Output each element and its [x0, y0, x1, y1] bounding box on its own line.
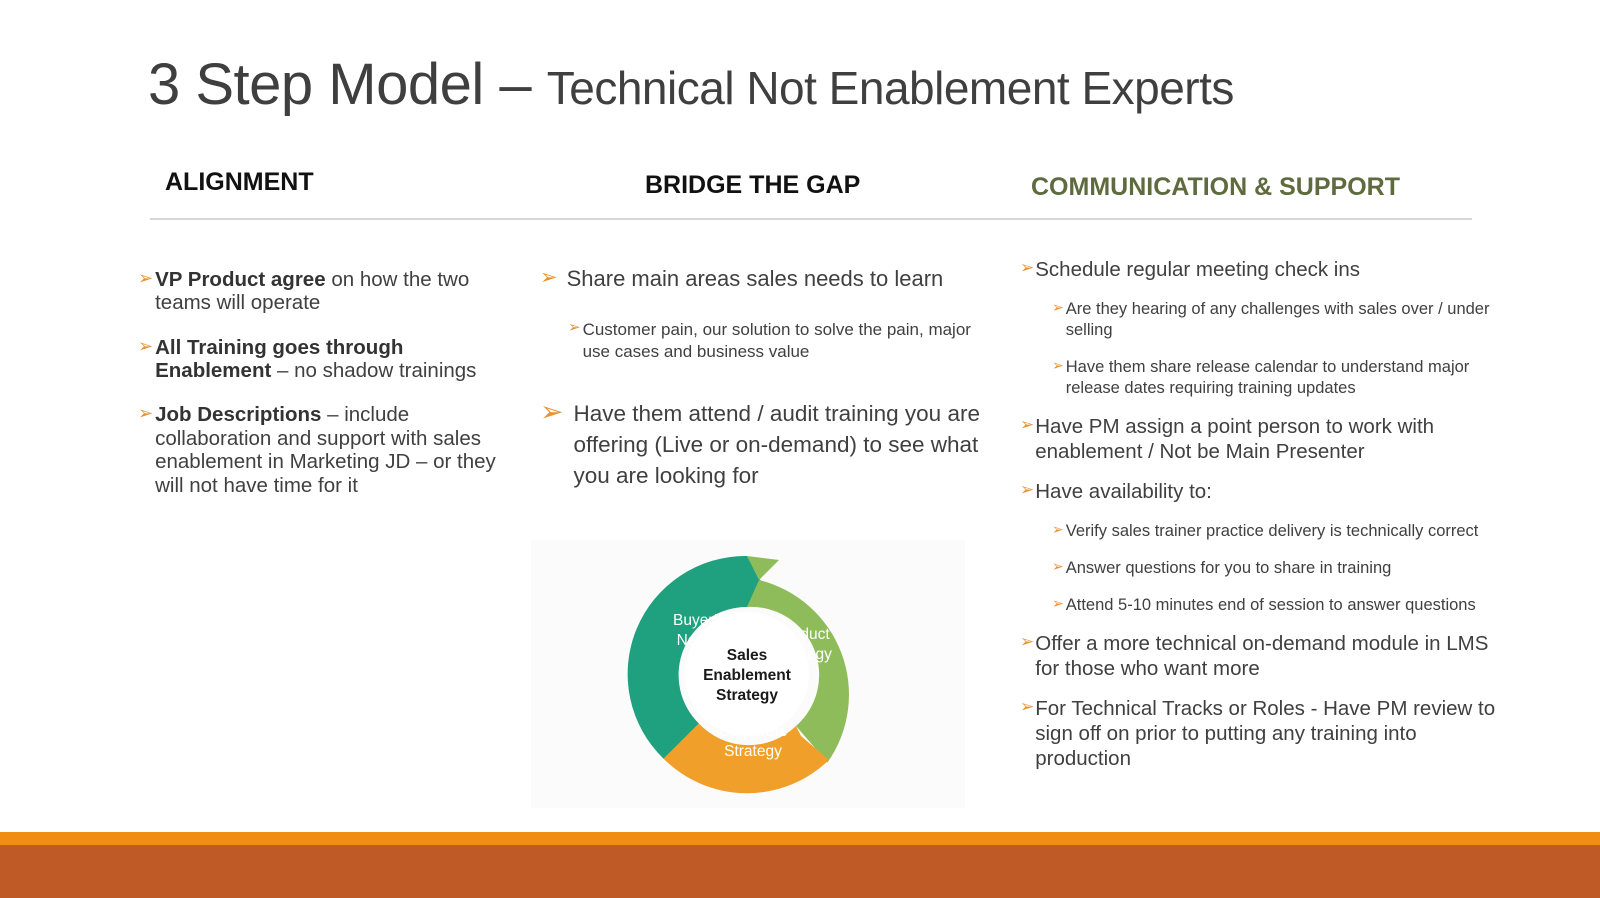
list-item-text: Offer a more technical on-demand module …	[1035, 632, 1505, 681]
list-item: ➢ Have PM assign a point person to work …	[1020, 415, 1505, 464]
column-header-communication-support: COMMUNICATION & SUPPORT	[1031, 173, 1400, 202]
list-item-lead: Job Descriptions	[155, 403, 321, 426]
arrow-bullet-icon: ➢	[1052, 595, 1064, 611]
column-header-bridge-the-gap: BRIDGE THE GAP	[645, 171, 860, 200]
title-subtitle: Technical Not Enablement Experts	[547, 62, 1234, 114]
arrow-bullet-icon: ➢	[138, 336, 153, 357]
arrow-bullet-icon: ➢	[138, 403, 153, 424]
segment-label-buyers-needs-line1: Buyer’s	[673, 612, 725, 629]
list-item: ➢ Job Descriptions – include collaborati…	[138, 403, 508, 496]
footer-bar-rust	[0, 845, 1600, 898]
list-item-text: Schedule regular meeting check ins	[1035, 258, 1505, 283]
list-item-text: Have them share release calendar to unde…	[1066, 357, 1502, 399]
header-divider-rule	[150, 218, 1472, 220]
list-item-text: – no shadow trainings	[271, 359, 476, 382]
list-item: ➢ VP Product agree on how the two teams …	[138, 268, 508, 315]
list-item: ➢ Share main areas sales needs to learn	[540, 266, 990, 291]
arrow-bullet-icon: ➢	[1052, 357, 1064, 373]
list-item-sub: ➢ Verify sales trainer practice delivery…	[1052, 521, 1502, 542]
list-item-text: Have PM assign a point person to work wi…	[1035, 415, 1505, 464]
list-item-sub: ➢ Customer pain, our solution to solve t…	[568, 319, 978, 363]
arrow-bullet-icon: ➢	[1052, 299, 1064, 315]
arrow-bullet-icon: ➢	[540, 398, 563, 426]
list-item-sub: ➢ Have them share release calendar to un…	[1052, 357, 1502, 399]
list-item-text: Attend 5-10 minutes end of session to an…	[1066, 595, 1502, 616]
footer-accent-bar-orange	[0, 832, 1600, 845]
donut-center-line2: Enablement	[703, 667, 791, 684]
column-header-alignment: ALIGNMENT	[165, 168, 314, 197]
list-item-sub: ➢ Attend 5-10 minutes end of session to …	[1052, 595, 1502, 616]
slide-canvas: 3 Step Model – Technical Not Enablement …	[0, 0, 1600, 898]
list-item-text: Verify sales trainer practice delivery i…	[1066, 521, 1502, 542]
list-item: ➢ All Training goes through Enablement –…	[138, 336, 508, 383]
list-item-text: Share main areas sales needs to learn	[567, 266, 990, 291]
donut-center-line1: Sales	[727, 647, 768, 664]
arrow-bullet-icon: ➢	[1020, 258, 1034, 278]
list-item-text: Customer pain, our solution to solve the…	[583, 319, 978, 363]
title-main: 3 Step Model –	[148, 52, 547, 117]
arrow-bullet-icon: ➢	[1020, 632, 1034, 652]
arrow-bullet-icon: ➢	[1052, 558, 1064, 574]
list-item-text: Are they hearing of any challenges with …	[1066, 299, 1502, 341]
list-item-sub: ➢ Answer questions for you to share in t…	[1052, 558, 1502, 579]
list-item-lead: VP Product agree	[155, 268, 326, 291]
arrow-bullet-icon: ➢	[1020, 480, 1034, 500]
segment-label-corporate-strategy-line2: Strategy	[724, 743, 782, 760]
column-bridge-body: ➢ Share main areas sales needs to learn …	[540, 266, 990, 491]
arrow-bullet-icon: ➢	[1020, 697, 1034, 717]
list-item: ➢ For Technical Tracks or Roles - Have P…	[1020, 697, 1505, 771]
list-item-sub: ➢ Are they hearing of any challenges wit…	[1052, 299, 1502, 341]
arrow-bullet-icon: ➢	[1052, 521, 1064, 537]
list-item: ➢ Schedule regular meeting check ins	[1020, 258, 1505, 283]
list-item-text: Answer questions for you to share in tra…	[1066, 558, 1502, 579]
segment-label-buyers-needs-line2: Needs	[677, 632, 722, 649]
arrow-bullet-icon: ➢	[138, 268, 153, 289]
page-title: 3 Step Model – Technical Not Enablement …	[148, 56, 1234, 114]
list-item: ➢ Have them attend / audit training you …	[540, 398, 990, 491]
list-item-text: Have availability to:	[1035, 480, 1505, 505]
column-alignment-body: ➢ VP Product agree on how the two teams …	[138, 268, 508, 518]
sales-enablement-donut-diagram: Buyer’s Needs Product Strategy Corporate…	[619, 546, 875, 802]
segment-label-product-strategy-line1: Product	[776, 626, 830, 643]
column-communication-body: ➢ Schedule regular meeting check ins ➢ A…	[1020, 258, 1505, 787]
donut-center-line3: Strategy	[716, 687, 778, 704]
segment-label-product-strategy-line2: Strategy	[774, 646, 832, 663]
segment-label-corporate-strategy-line1: Corporate	[719, 723, 788, 740]
arrow-bullet-icon: ➢	[1020, 415, 1034, 435]
arrow-bullet-icon: ➢	[568, 319, 581, 336]
list-item-text: For Technical Tracks or Roles - Have PM …	[1035, 697, 1505, 771]
list-item: ➢ Have availability to:	[1020, 480, 1505, 505]
list-item: ➢ Offer a more technical on-demand modul…	[1020, 632, 1505, 681]
list-item-text: Have them attend / audit training you ar…	[573, 398, 990, 491]
arrow-bullet-icon: ➢	[540, 266, 558, 290]
